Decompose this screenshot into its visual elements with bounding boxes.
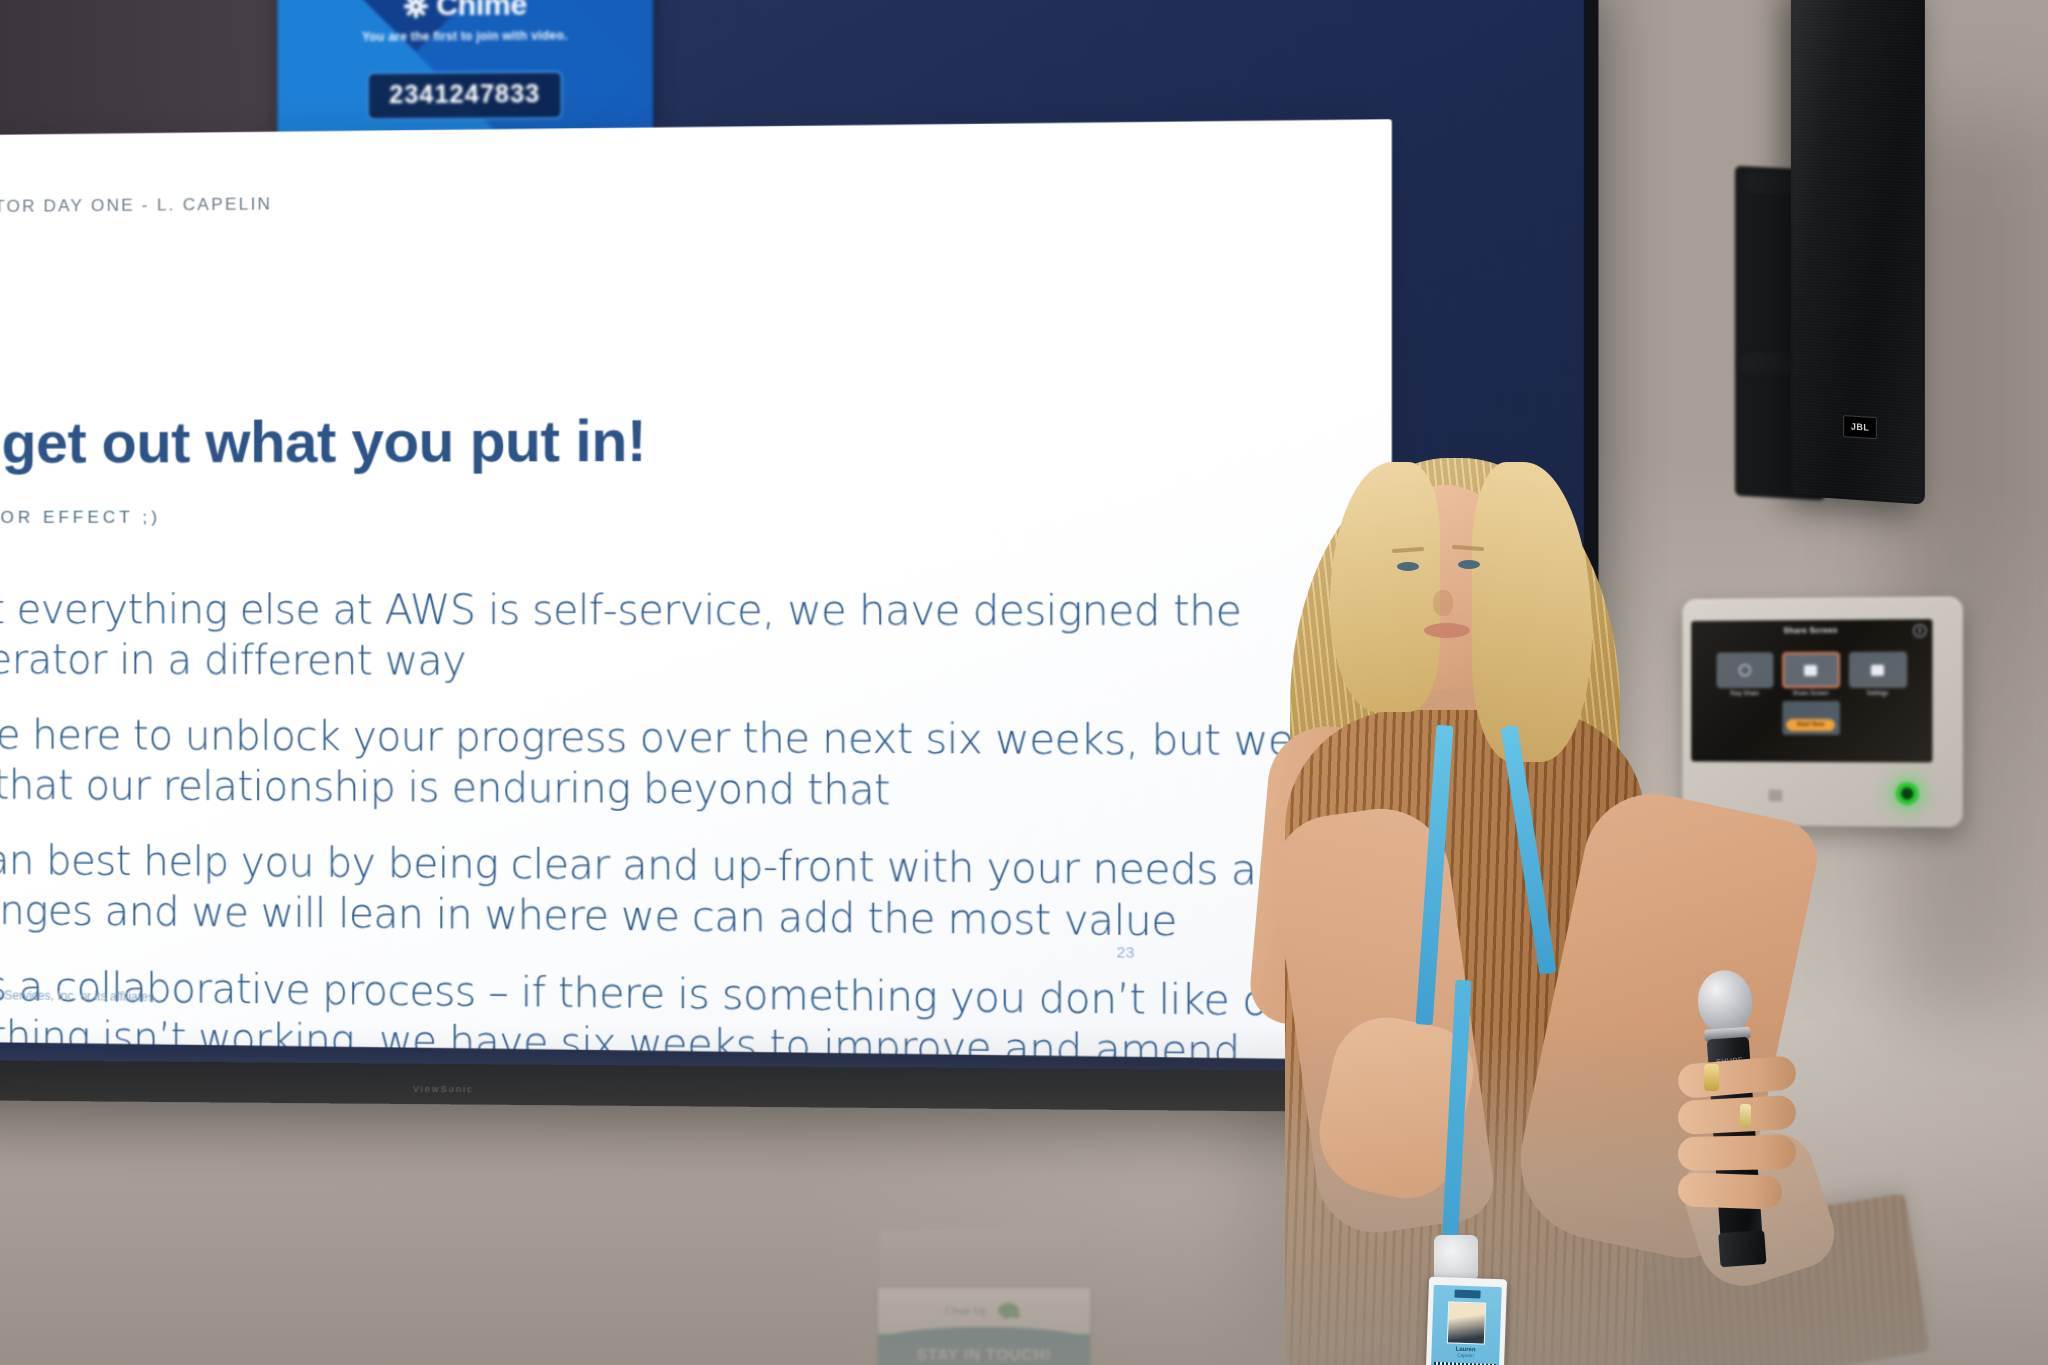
jbl-logo: JBL (1843, 415, 1877, 439)
badge-logo-icon (1454, 1290, 1480, 1299)
finger (1677, 1095, 1797, 1135)
control-tile-share-screen[interactable]: Share Screen Start Now (1782, 652, 1840, 735)
chime-join-card: amazon Chime You are the first to join w… (277, 0, 652, 149)
start-now-button[interactable]: Start Now (1787, 719, 1835, 731)
info-icon[interactable]: i (1913, 624, 1926, 637)
mouth (1424, 623, 1470, 638)
finger (1677, 1172, 1782, 1210)
presentation-scene: amazon Chime You are the first to join w… (0, 0, 2048, 1365)
microphone-grille (1696, 968, 1754, 1034)
eye-right (1458, 560, 1480, 569)
slide-page-number: 23 (1117, 944, 1135, 962)
badge-photo (1447, 1301, 1486, 1344)
control-tile-action-area: Start Now (1782, 701, 1840, 735)
slide-bullet: We are here to unblock your progress ove… (0, 711, 1336, 820)
meeting-id: 2341247833 (389, 80, 540, 109)
slide-footer: © 2023, Amazon Web Services, Inc. or its… (0, 987, 158, 1004)
chime-brand-row: Chime (277, 0, 652, 24)
slide-bullet-list: Whilst everything else at AWS is self-se… (0, 586, 1336, 1060)
finger (1678, 1135, 1797, 1171)
panel-sensor (1769, 790, 1783, 802)
chime-branding: amazon Chime You are the first to join w… (277, 0, 652, 45)
chime-brand-text: Chime (436, 0, 527, 23)
nose (1433, 590, 1453, 616)
id-badge-face: Lauren Capelin (1430, 1285, 1502, 1365)
status-led (1896, 782, 1918, 804)
thin-ring (1740, 1104, 1751, 1128)
slide-eyebrow: ACCELERATOR DAY ONE - L. CAPELIN (0, 194, 272, 218)
eye-left (1397, 562, 1419, 571)
gold-ring (1704, 1064, 1719, 1091)
badge-last-name: Capelin (1457, 1353, 1474, 1360)
laptop-icon (1782, 652, 1840, 688)
hand-left-fingers (1678, 1060, 1798, 1250)
control-tile-label: Share Screen (1782, 691, 1840, 698)
slide-title: You get out what you put in! (0, 408, 646, 477)
control-tile-settings[interactable]: Settings (1848, 652, 1906, 699)
hair-front-left (1330, 462, 1440, 712)
slide-bullet: You can best help you by being clear and… (0, 836, 1336, 950)
meeting-id-box: 2341247833 (367, 71, 563, 121)
hair-front-right (1472, 462, 1592, 762)
id-badge: Lauren Capelin (1425, 1277, 1507, 1365)
jbl-wall-speaker: JBL (1791, 0, 1925, 505)
slide-bullet: Whilst everything else at AWS is self-se… (0, 586, 1336, 690)
chime-subtitle: You are the first to join with video. (277, 28, 652, 45)
presentation-slide: ACCELERATOR DAY ONE - L. CAPELIN You get… (0, 119, 1392, 1060)
display-icon (1848, 652, 1906, 688)
finger (1677, 1055, 1798, 1099)
slide-subtitle: THE MIRROR EFFECT ;) (0, 508, 161, 528)
control-tile-label: Settings (1848, 691, 1906, 698)
chime-asterisk-icon (403, 0, 429, 19)
badge-reel (1434, 1235, 1478, 1281)
